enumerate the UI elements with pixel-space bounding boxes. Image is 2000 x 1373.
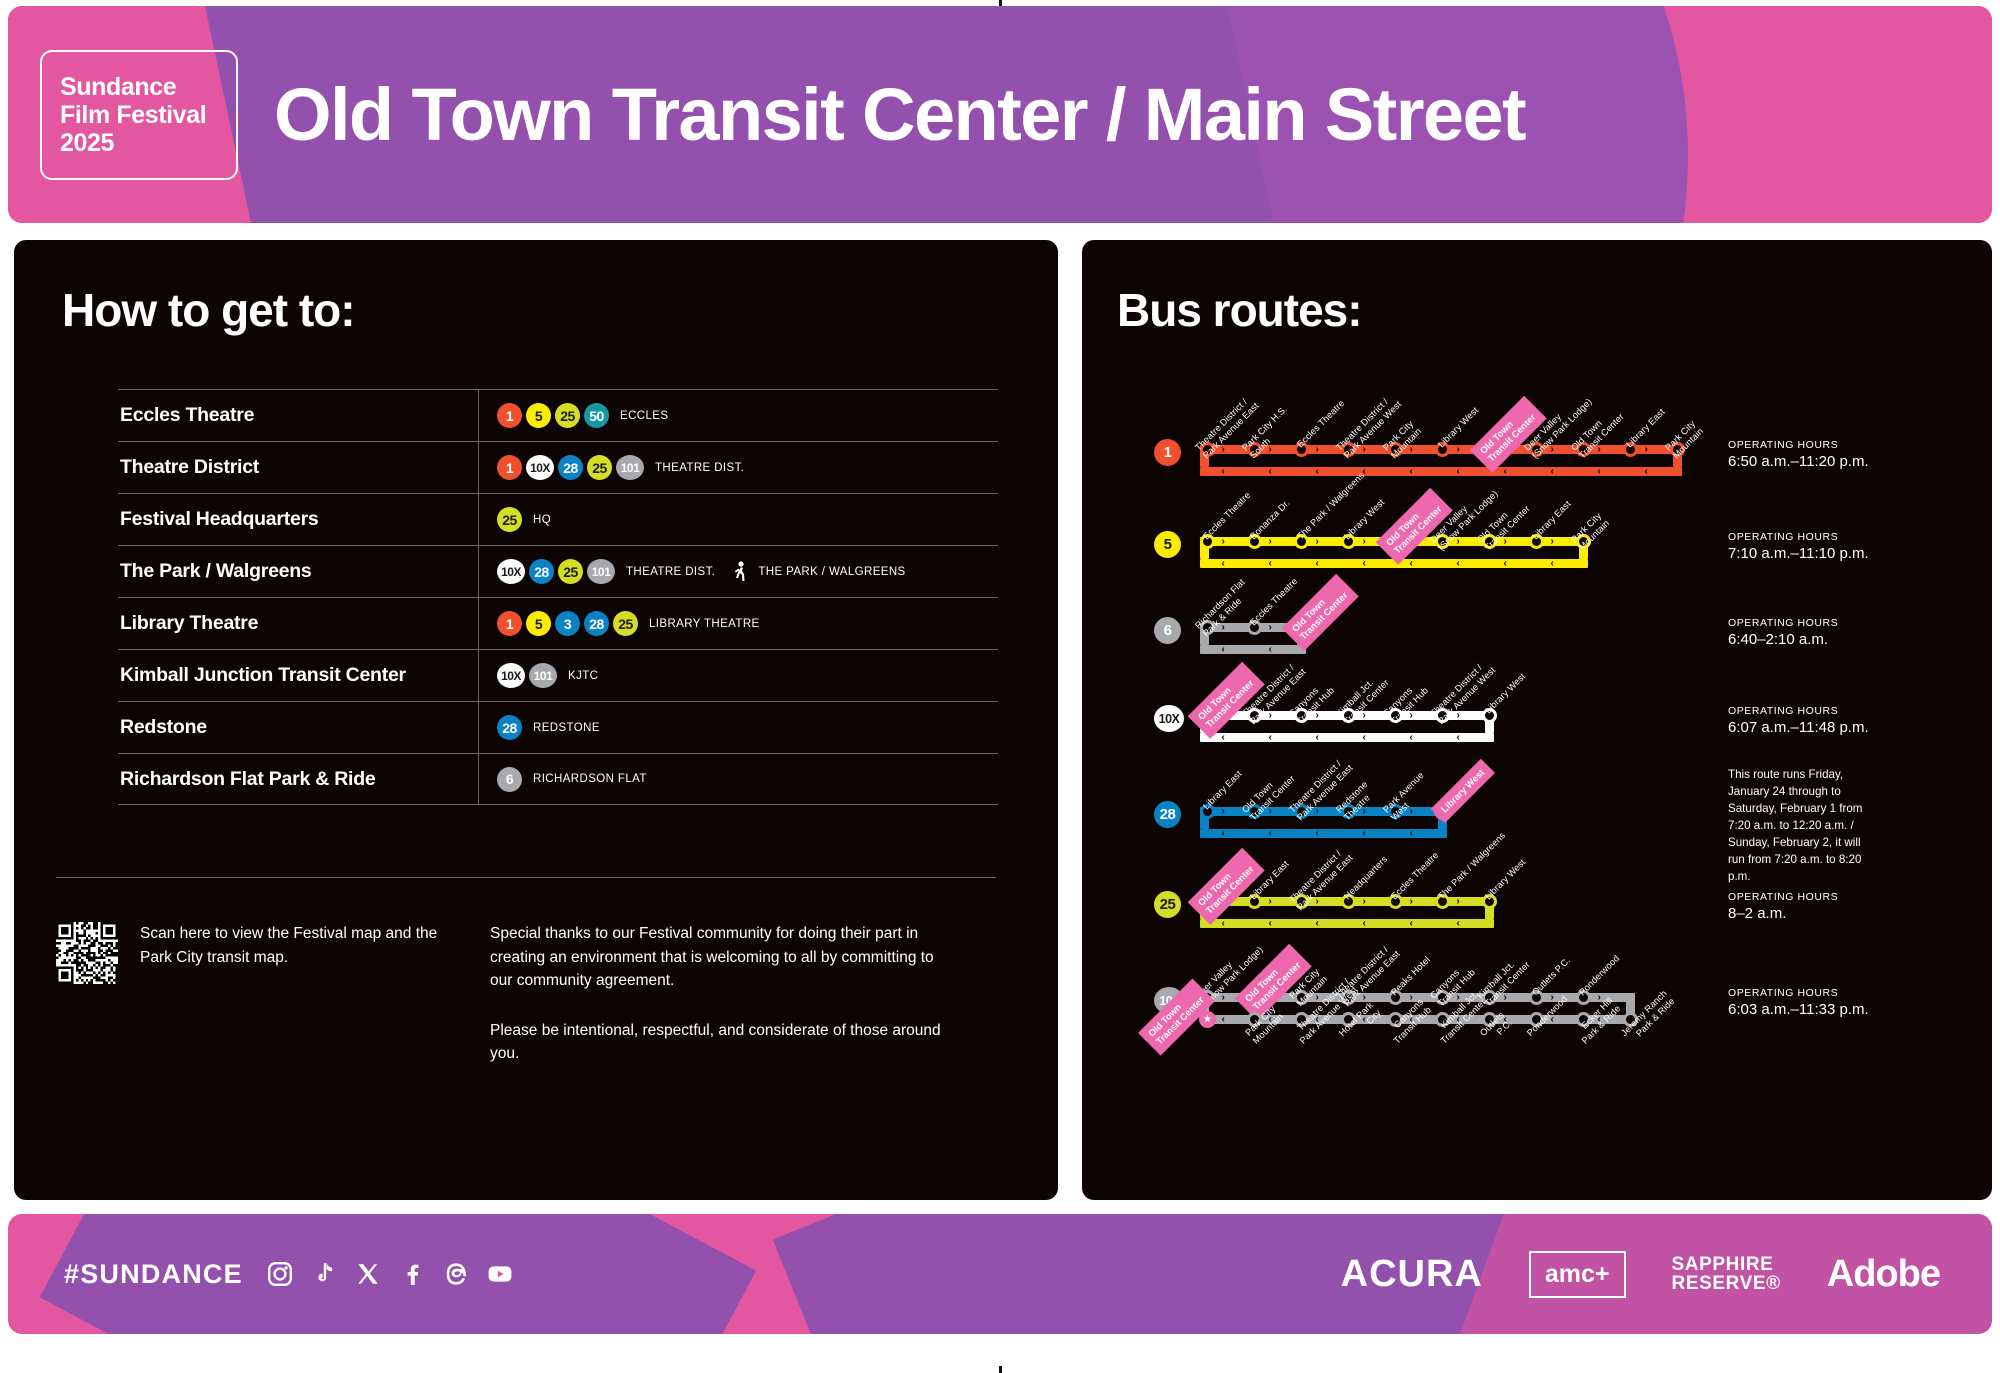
hub-label: Library West xyxy=(1431,759,1495,823)
direction-arrow: ‹ xyxy=(1410,919,1413,928)
direction-arrow: ‹ xyxy=(1269,919,1272,928)
sponsor-amc: amc+ xyxy=(1529,1251,1626,1298)
social-links xyxy=(267,1261,513,1287)
how-to-row: The Park / Walgreens10X2825101THEATRE DI… xyxy=(118,545,998,597)
direction-arrow: ‹ xyxy=(1269,467,1272,476)
logo-line-2: Film Festival xyxy=(60,101,236,129)
destination-label: Festival Headquarters xyxy=(118,508,478,531)
route-badge-25[interactable]: 25 xyxy=(555,403,580,428)
route-badge-101[interactable]: 101 xyxy=(616,455,644,480)
direction-arrow: › xyxy=(1316,445,1319,454)
direction-arrow: ‹ xyxy=(1410,467,1413,476)
route-badge-10x[interactable]: 10X xyxy=(497,559,525,584)
logo-line-1: Sundance xyxy=(60,73,236,101)
operating-hours-value: 6:03 a.m.–11:33 p.m. xyxy=(1728,1001,1869,1018)
route-badge-group: 10X101KJTC xyxy=(478,650,998,701)
direction-arrow: ‹ xyxy=(1222,919,1225,928)
direction-arrow: › xyxy=(1410,993,1413,1002)
operating-hours-value: 8–2 a.m. xyxy=(1728,905,1838,922)
direction-arrow: › xyxy=(1457,897,1460,906)
logo-line-3: 2025 xyxy=(60,129,236,157)
stop-label: Park CityMountain xyxy=(1381,418,1424,461)
stop-name: ECCLES xyxy=(620,410,668,422)
direction-arrow: ‹ xyxy=(1363,559,1366,568)
operating-hours-block: OPERATING HOURS8–2 a.m. xyxy=(1728,891,1838,922)
operating-hours-block: OPERATING HOURS6:50 a.m.–11:20 p.m. xyxy=(1728,439,1869,470)
destination-label: Library Theatre xyxy=(118,612,478,635)
destination-label: Kimball Junction Transit Center xyxy=(118,664,478,687)
route-badge-25[interactable]: 25 xyxy=(587,455,612,480)
route-line-return xyxy=(1200,645,1306,654)
how-to-panel-title: How to get to: xyxy=(62,283,1058,337)
operating-hours-value: 6:50 a.m.–11:20 p.m. xyxy=(1728,453,1869,470)
stop-name: THEATRE DIST. xyxy=(655,462,744,474)
route-number-badge[interactable]: 5 xyxy=(1154,531,1181,558)
direction-arrow: › xyxy=(1269,897,1272,906)
page-header: Sundance Film Festival 2025 Old Town Tra… xyxy=(8,6,1992,223)
how-to-row: Festival Headquarters25HQ xyxy=(118,493,998,545)
direction-arrow: › xyxy=(1363,537,1366,546)
route-badge-10x[interactable]: 10X xyxy=(497,663,525,688)
instagram-icon[interactable] xyxy=(267,1261,293,1287)
direction-arrow: ‹ xyxy=(1504,467,1507,476)
page-title: Old Town Transit Center / Main Street xyxy=(274,72,1525,157)
route-badge-25[interactable]: 25 xyxy=(613,611,638,636)
direction-arrow: ‹ xyxy=(1504,559,1507,568)
route-badge-28[interactable]: 28 xyxy=(497,715,522,740)
direction-arrow: ‹ xyxy=(1316,559,1319,568)
stop-name: HQ xyxy=(533,514,551,526)
direction-arrow: › xyxy=(1457,445,1460,454)
direction-arrow: ‹ xyxy=(1269,645,1272,654)
how-to-row: Redstone28REDSTONE xyxy=(118,701,998,753)
route-line-return xyxy=(1200,467,1682,476)
direction-arrow: ‹ xyxy=(1410,733,1413,742)
direction-arrow: › xyxy=(1551,537,1554,546)
how-to-get-to-panel: How to get to: Eccles Theatre152550ECCLE… xyxy=(14,240,1058,1200)
stop-name: KJTC xyxy=(568,670,598,682)
direction-arrow: ‹ xyxy=(1222,467,1225,476)
sponsor-sapphire-reserve: SAPPHIRERESERVE® xyxy=(1672,1255,1781,1294)
route-badge-group: 1532825LIBRARY THEATRE xyxy=(478,598,998,649)
route-badge-group: 25HQ xyxy=(478,494,998,545)
direction-arrow: ‹ xyxy=(1457,467,1460,476)
how-to-table: Eccles Theatre152550ECCLESTheatre Distri… xyxy=(118,389,998,805)
sponsor-adobe: Adobe xyxy=(1827,1253,1940,1296)
operating-hours-value: 7:10 a.m.–11:10 p.m. xyxy=(1728,545,1869,562)
section-divider xyxy=(56,877,996,878)
x-icon[interactable] xyxy=(355,1261,381,1287)
stop-name: LIBRARY THEATRE xyxy=(649,618,760,630)
bus-routes-panel-title: Bus routes: xyxy=(1117,283,1992,337)
stop-label: Park CityMountain xyxy=(1663,418,1706,461)
direction-arrow: › xyxy=(1410,897,1413,906)
operating-hours-label: OPERATING HOURS xyxy=(1728,705,1869,717)
direction-arrow: ‹ xyxy=(1269,559,1272,568)
direction-arrow: ‹ xyxy=(1316,467,1319,476)
route-badge-101[interactable]: 101 xyxy=(529,663,557,688)
direction-arrow: ‹ xyxy=(1222,645,1225,654)
direction-arrow: ‹ xyxy=(1222,829,1225,838)
route-badge-group: 152550ECCLES xyxy=(478,390,998,441)
direction-arrow: ‹ xyxy=(1363,919,1366,928)
direction-arrow: ‹ xyxy=(1222,733,1225,742)
route-badge-group: 28REDSTONE xyxy=(478,702,998,753)
sponsor-acura: ACURA xyxy=(1341,1253,1483,1296)
direction-arrow: ‹ xyxy=(1598,467,1601,476)
route-badge-1[interactable]: 1 xyxy=(497,403,522,428)
direction-arrow: ‹ xyxy=(1410,829,1413,838)
operating-hours-label: OPERATING HOURS xyxy=(1728,439,1869,451)
route-badge-6[interactable]: 6 xyxy=(497,767,522,792)
operating-hours-value: 6:40–2:10 a.m. xyxy=(1728,631,1838,648)
how-to-row: Theatre District110X2825101THEATRE DIST. xyxy=(118,441,998,493)
walk-icon xyxy=(733,561,748,583)
route-badge-group: 10X2825101THEATRE DIST.THE PARK / WALGRE… xyxy=(478,546,998,597)
tiktok-icon[interactable] xyxy=(311,1261,337,1287)
direction-arrow: › xyxy=(1222,807,1225,816)
route-number-badge[interactable]: 1 xyxy=(1154,439,1181,466)
direction-arrow: ‹ xyxy=(1363,829,1366,838)
stop-name: THEATRE DIST. xyxy=(626,566,715,578)
operating-hours-block: OPERATING HOURS6:03 a.m.–11:33 p.m. xyxy=(1728,987,1869,1018)
route-badge-3[interactable]: 3 xyxy=(555,611,580,636)
route-badge-5[interactable]: 5 xyxy=(526,403,551,428)
route-badge-28[interactable]: 28 xyxy=(558,455,583,480)
operating-hours-block: This route runs Friday, January 24 throu… xyxy=(1728,767,1878,885)
direction-arrow: ‹ xyxy=(1316,919,1319,928)
operating-hours-block: OPERATING HOURS7:10 a.m.–11:10 p.m. xyxy=(1728,531,1869,562)
route-schedule-note: This route runs Friday, January 24 throu… xyxy=(1728,767,1878,885)
route-badge-1[interactable]: 1 xyxy=(497,611,522,636)
direction-arrow: ‹ xyxy=(1410,559,1413,568)
route-badge-group: 6RICHARDSON FLAT xyxy=(478,754,998,804)
operating-hours-label: OPERATING HOURS xyxy=(1728,891,1838,903)
route-line-return xyxy=(1200,919,1494,928)
operating-hours-block: OPERATING HOURS6:40–2:10 a.m. xyxy=(1728,617,1838,648)
direction-arrow: › xyxy=(1316,537,1319,546)
sponsor-logos: ACURA amc+ SAPPHIRERESERVE® Adobe xyxy=(1341,1251,1940,1298)
direction-arrow: ‹ xyxy=(1269,829,1272,838)
sundance-logo: Sundance Film Festival 2025 xyxy=(40,50,238,180)
stop-label: RedstoneTheatre xyxy=(1334,779,1378,823)
thanks-text: Special thanks to our Festival community… xyxy=(490,922,960,1066)
direction-arrow: › xyxy=(1269,537,1272,546)
stop-label: Eccles Theatre xyxy=(1389,850,1441,902)
crop-tick-bottom xyxy=(999,1366,1002,1373)
how-to-row: Library Theatre1532825LIBRARY THEATRE xyxy=(118,597,998,649)
destination-label: Eccles Theatre xyxy=(118,404,478,427)
route-badge-25[interactable]: 25 xyxy=(497,507,522,532)
route-badge-1[interactable]: 1 xyxy=(497,455,522,480)
stop-label: Library West xyxy=(1483,857,1528,902)
direction-arrow: ‹ xyxy=(1222,559,1225,568)
page-footer: #SUNDANCE ACURA amc+ SAPPHIRERESERVE® Ad… xyxy=(8,1214,1992,1334)
direction-arrow: ‹ xyxy=(1551,467,1554,476)
destination-label: Theatre District xyxy=(118,456,478,479)
route-number-badge[interactable]: 10X xyxy=(1154,705,1184,732)
direction-arrow: › xyxy=(1222,537,1225,546)
direction-arrow: ‹ xyxy=(1457,919,1460,928)
stop-label: Park CityMountain xyxy=(1569,510,1612,553)
hashtag: #SUNDANCE xyxy=(64,1259,243,1290)
route-badge-group: 110X2825101THEATRE DIST. xyxy=(478,442,998,493)
route-badge-10x[interactable]: 10X xyxy=(526,455,554,480)
route-line-return xyxy=(1200,733,1494,742)
destination-label: Redstone xyxy=(118,716,478,739)
route-number-badge[interactable]: 6 xyxy=(1154,617,1181,644)
route-number-badge[interactable]: 28 xyxy=(1154,801,1181,828)
qr-caption: Scan here to view the Festival map and t… xyxy=(140,922,470,1066)
direction-arrow: › xyxy=(1598,993,1601,1002)
direction-arrow: ‹ xyxy=(1457,559,1460,568)
walk-destination-name: THE PARK / WALGREENS xyxy=(758,566,905,578)
destination-label: Richardson Flat Park & Ride xyxy=(118,768,478,791)
stop-name: RICHARDSON FLAT xyxy=(533,773,647,785)
direction-arrow: ‹ xyxy=(1457,733,1460,742)
bus-routes-diagram: 1››››››››››‹‹‹‹‹‹‹‹‹‹Theatre District /P… xyxy=(1082,355,1992,1215)
direction-arrow: ‹ xyxy=(1222,1015,1225,1024)
direction-arrow: ‹ xyxy=(1316,829,1319,838)
how-to-row: Eccles Theatre152550ECCLES xyxy=(118,389,998,441)
direction-arrow: › xyxy=(1551,993,1554,1002)
operating-hours-label: OPERATING HOURS xyxy=(1728,531,1869,543)
route-badge-28[interactable]: 28 xyxy=(529,559,554,584)
direction-arrow: › xyxy=(1645,445,1648,454)
thanks-paragraph-2: Please be intentional, respectful, and c… xyxy=(490,1019,960,1066)
qr-code[interactable] xyxy=(56,922,118,984)
route-badge-5[interactable]: 5 xyxy=(526,611,551,636)
route-badge-25[interactable]: 25 xyxy=(558,559,583,584)
how-to-row: Kimball Junction Transit Center10X101KJT… xyxy=(118,649,998,701)
direction-arrow: ‹ xyxy=(1551,559,1554,568)
direction-arrow: ‹ xyxy=(1316,733,1319,742)
route-badge-28[interactable]: 28 xyxy=(584,611,609,636)
threads-icon[interactable] xyxy=(443,1261,469,1287)
destination-label: The Park / Walgreens xyxy=(118,560,478,583)
facebook-icon[interactable] xyxy=(399,1261,425,1287)
route-badge-50[interactable]: 50 xyxy=(584,403,609,428)
stop-label: Eccles Theatre xyxy=(1201,490,1253,542)
direction-arrow: › xyxy=(1363,897,1366,906)
operating-hours-label: OPERATING HOURS xyxy=(1728,617,1838,629)
operating-hours-value: 6:07 a.m.–11:48 p.m. xyxy=(1728,719,1869,736)
how-to-row: Richardson Flat Park & Ride6RICHARDSON F… xyxy=(118,753,998,805)
youtube-icon[interactable] xyxy=(487,1261,513,1287)
direction-arrow: ‹ xyxy=(1363,733,1366,742)
operating-hours-block: OPERATING HOURS6:07 a.m.–11:48 p.m. xyxy=(1728,705,1869,736)
direction-arrow: ‹ xyxy=(1269,733,1272,742)
hub-label: Old TownTransit Center xyxy=(1188,848,1265,925)
direction-arrow: ‹ xyxy=(1645,467,1648,476)
route-badge-101[interactable]: 101 xyxy=(587,559,615,584)
bus-routes-panel: Bus routes: 1››››››››››‹‹‹‹‹‹‹‹‹‹Theatre… xyxy=(1082,240,1992,1200)
stop-name: REDSTONE xyxy=(533,722,600,734)
thanks-paragraph-1: Special thanks to our Festival community… xyxy=(490,922,960,993)
route-number-badge[interactable]: 25 xyxy=(1154,891,1181,918)
operating-hours-label: OPERATING HOURS xyxy=(1728,987,1869,999)
direction-arrow: › xyxy=(1269,623,1272,632)
